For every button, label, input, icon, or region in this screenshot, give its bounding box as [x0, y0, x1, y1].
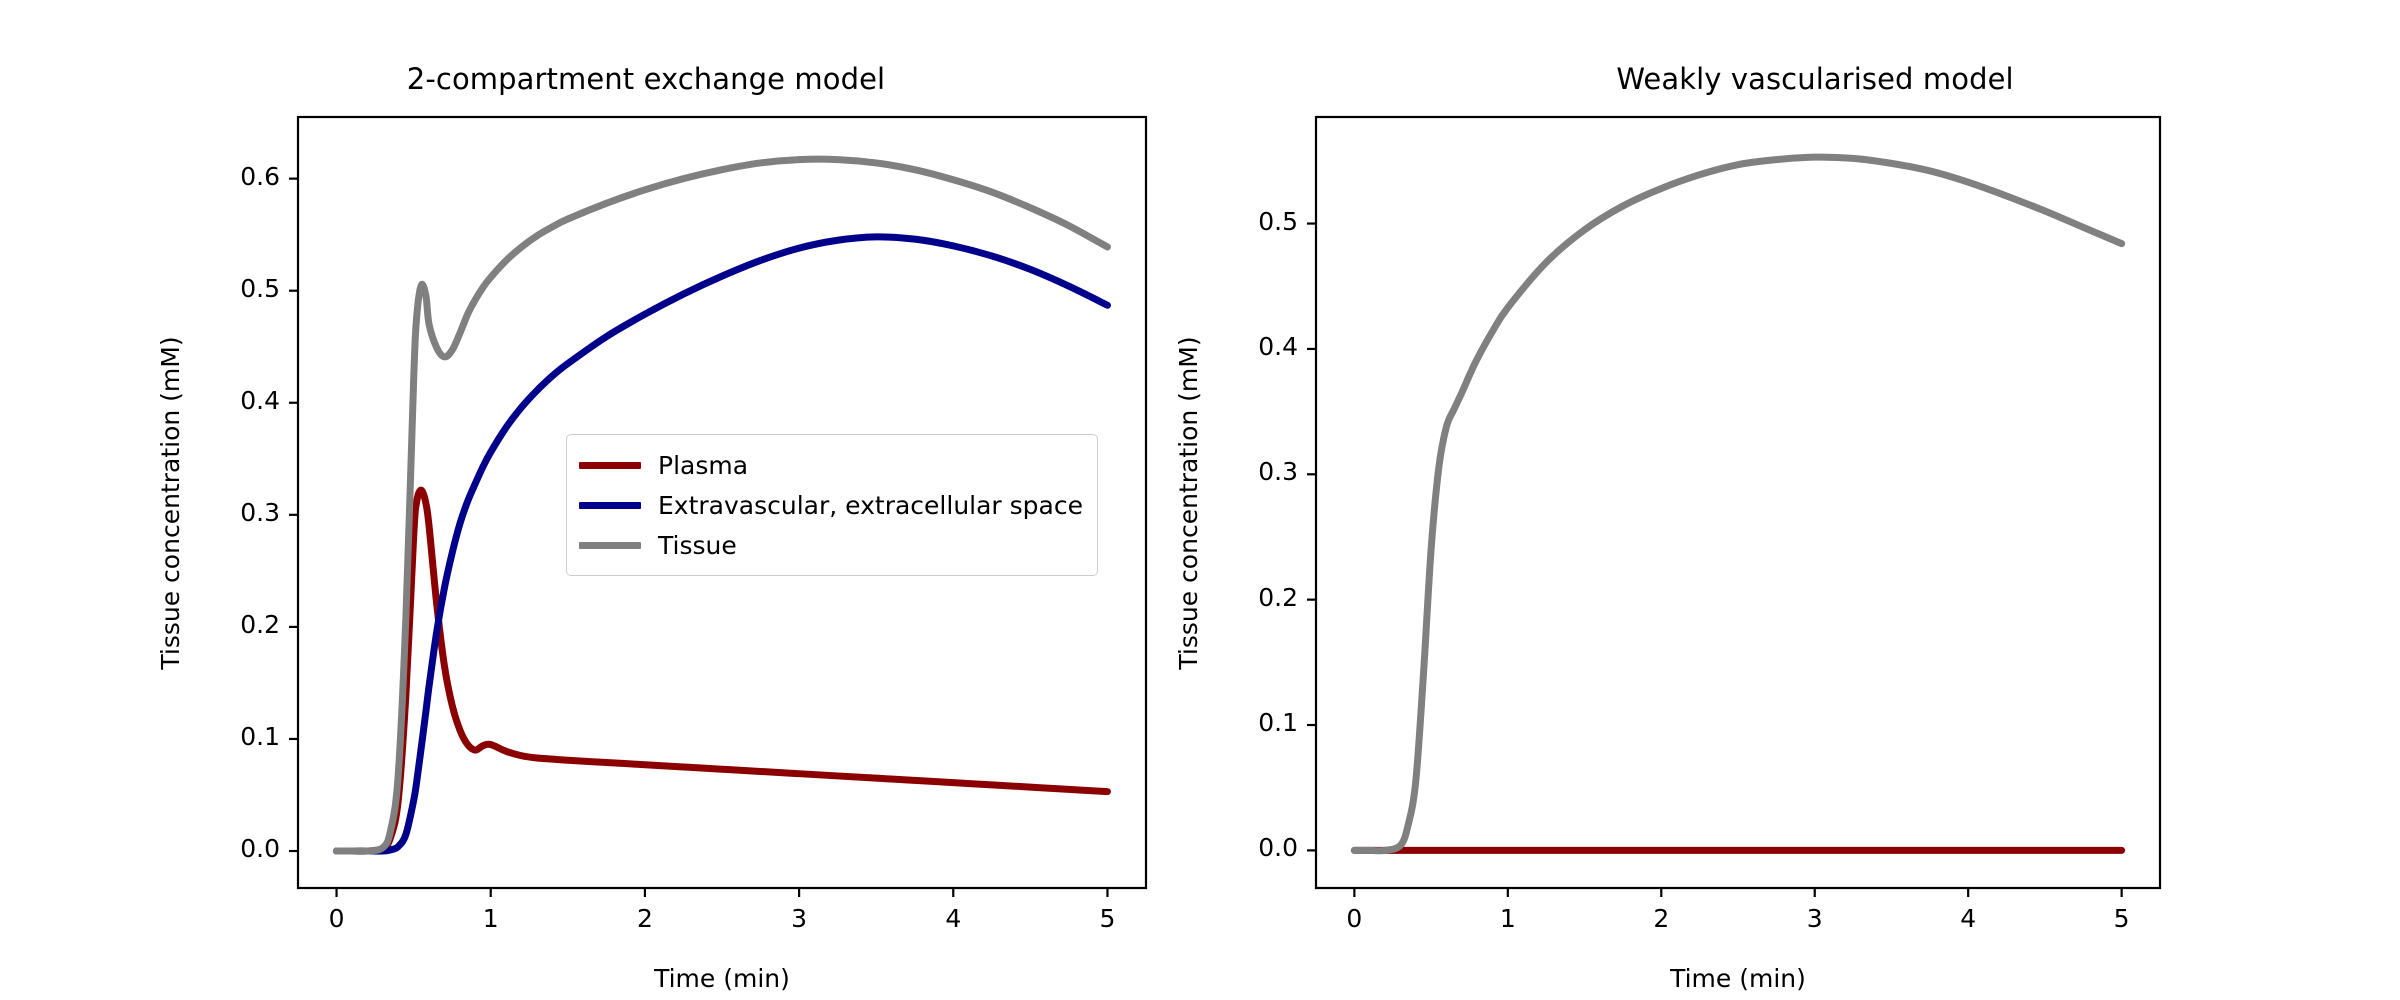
x-tick-label: 3: [759, 904, 839, 933]
x-tick-label: 2: [605, 904, 685, 933]
y-tick-label: 0.3: [1206, 457, 1298, 486]
legend-item-label: Tissue: [658, 533, 737, 558]
legend-item-label: Extravascular, extracellular space: [658, 493, 1083, 518]
x-tick-label: 1: [451, 904, 531, 933]
axes-frame: [1316, 117, 2160, 888]
y-tick-label: 0.2: [1206, 583, 1298, 612]
y-tick-label: 0.1: [1206, 708, 1298, 737]
x-tick-label: 4: [1928, 904, 2008, 933]
x-tick-label: 0: [297, 904, 377, 933]
x-tick-label: 2: [1621, 904, 1701, 933]
x-tick-label: 5: [1067, 904, 1147, 933]
x-axis-label-right: Time (min): [1316, 964, 2160, 993]
y-tick-label: 0.5: [1206, 207, 1298, 236]
chart-panel-left: 2-compartment exchange model Time (min) …: [0, 0, 1200, 1000]
legend-item-label: Plasma: [658, 453, 748, 478]
legend-left: PlasmaExtravascular, extracellular space…: [566, 434, 1098, 576]
y-tick-label: 0.2: [188, 610, 280, 639]
x-tick-label: 5: [2082, 904, 2162, 933]
x-axis-label-left: Time (min): [298, 964, 1146, 993]
legend-item[interactable]: Tissue: [579, 525, 1083, 565]
legend-color-swatch: [579, 542, 641, 549]
y-tick-label: 0.4: [188, 386, 280, 415]
chart-panel-right: Weakly vascularised model Time (min) Tis…: [1200, 0, 2400, 1000]
y-tick-label: 0.4: [1206, 332, 1298, 361]
y-axis-label-left: Tissue concentration (mM): [156, 117, 185, 888]
legend-item[interactable]: Extravascular, extracellular space: [579, 485, 1083, 525]
y-axis-label-right: Tissue concentration (mM): [1174, 117, 1203, 888]
x-tick-label: 1: [1468, 904, 1548, 933]
x-tick-label: 0: [1314, 904, 1394, 933]
y-tick-label: 0.3: [188, 498, 280, 527]
x-tick-label: 3: [1775, 904, 1855, 933]
y-tick-label: 0.6: [188, 162, 280, 191]
legend-item[interactable]: Plasma: [579, 445, 1083, 485]
x-tick-label: 4: [913, 904, 993, 933]
y-tick-label: 0.1: [188, 722, 280, 751]
figure-canvas: 2-compartment exchange model Time (min) …: [0, 0, 2400, 1000]
plot-area-right: [1200, 0, 2400, 1000]
legend-color-swatch: [579, 462, 641, 469]
y-tick-label: 0.0: [188, 834, 280, 863]
y-tick-label: 0.5: [188, 274, 280, 303]
y-tick-label: 0.0: [1206, 833, 1298, 862]
legend-color-swatch: [579, 502, 641, 509]
series-line-tissue: [1354, 157, 2121, 851]
